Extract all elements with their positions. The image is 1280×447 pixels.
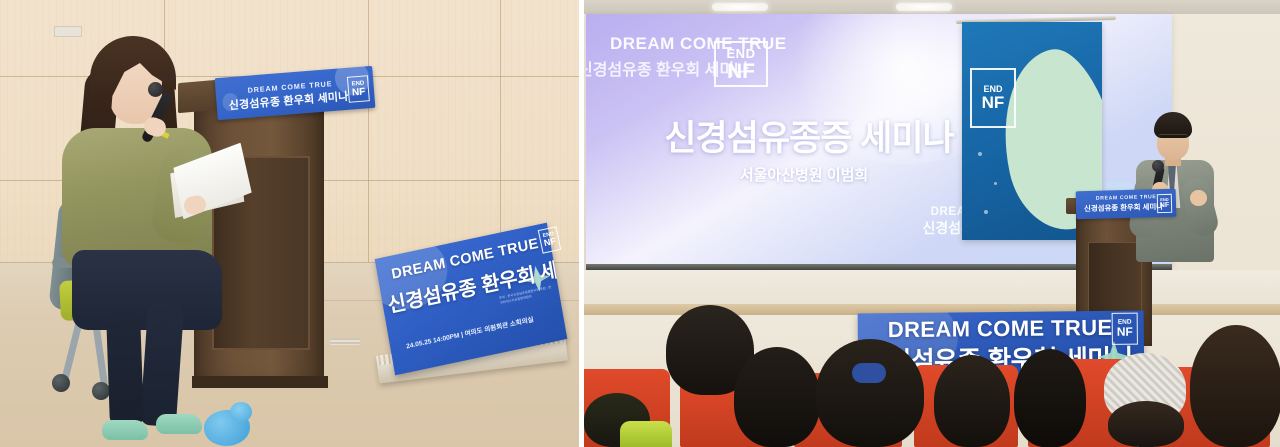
leg-front [140,303,184,427]
end-nf-logo-icon-wall: END NF [970,68,1016,128]
shoe-left [102,420,148,440]
audience-head-4 [934,355,1010,447]
audience-area [584,297,1280,447]
end-nf-logo-icon-slide: END NF [714,41,768,87]
sign-date-venue: 24.05.25 14:00PM | 여의도 의원회관 소회의실 [405,314,534,351]
logo-nf-text: NF [982,94,1005,111]
banner-dot-3 [984,210,988,214]
audience-head-6 [1108,401,1184,447]
audience-head-5 [1014,349,1086,447]
leg-back [106,311,144,426]
banner-korean-line: 신경섬유종 환우회 세미나 [1084,201,1163,214]
banner-korean-line: 신경섬유종 환우회 세미나 [228,88,349,113]
ceiling-downlight [712,3,768,11]
right-photo: DREAM COME TRUE 신경섬유종 환우회 세미나 END NF 신경섬… [584,0,1280,447]
photo-gutter [579,0,584,447]
microphone-head-icon [1152,160,1164,172]
logo-nf-text: NF [1160,202,1170,209]
left-photo: DREAM COME TRUE 신경섬유종 환우회 세미나 END NF [0,0,579,447]
audience-shoulder-highvis [620,421,672,447]
banner-dot [978,152,982,156]
eyeglasses-icon [1158,134,1188,143]
wall-seam-vertical-2 [368,0,369,262]
shoe-right [156,414,202,434]
ceiling-downlight-2 [896,3,952,11]
seated-woman-mc [44,28,234,428]
lectern-banner-right: DREAM COME TRUE 신경섬유종 환우회 세미나 END NF [1076,189,1177,220]
hand-gesturing [1190,190,1207,206]
floor-standing-sign: DREAM COME TRUE 신경섬유종 환우회 세미나 24.05.25 1… [377,232,567,372]
logo-nf-text: NF [543,237,557,248]
hair-bow [852,363,886,383]
microphone-head-icon [148,82,163,97]
blue-plush-toy-head [230,402,252,422]
banner-dot-2 [994,182,997,185]
audience-head-7 [1190,325,1280,447]
end-nf-logo-icon: END NF [347,75,370,103]
logo-nf-text: NF [727,61,755,82]
wall-seam-vertical-3 [500,0,501,262]
end-nf-logo-icon-lectern: END NF [1157,194,1172,213]
audience-head-3 [816,339,924,447]
audience-head-2 [734,347,820,447]
logo-nf-text: NF [352,87,366,98]
logo-end-text: END [727,47,756,60]
photo-pair-canvas: DREAM COME TRUE 신경섬유종 환우회 세미나 END NF [0,0,1280,447]
male-speaker [1130,112,1230,262]
